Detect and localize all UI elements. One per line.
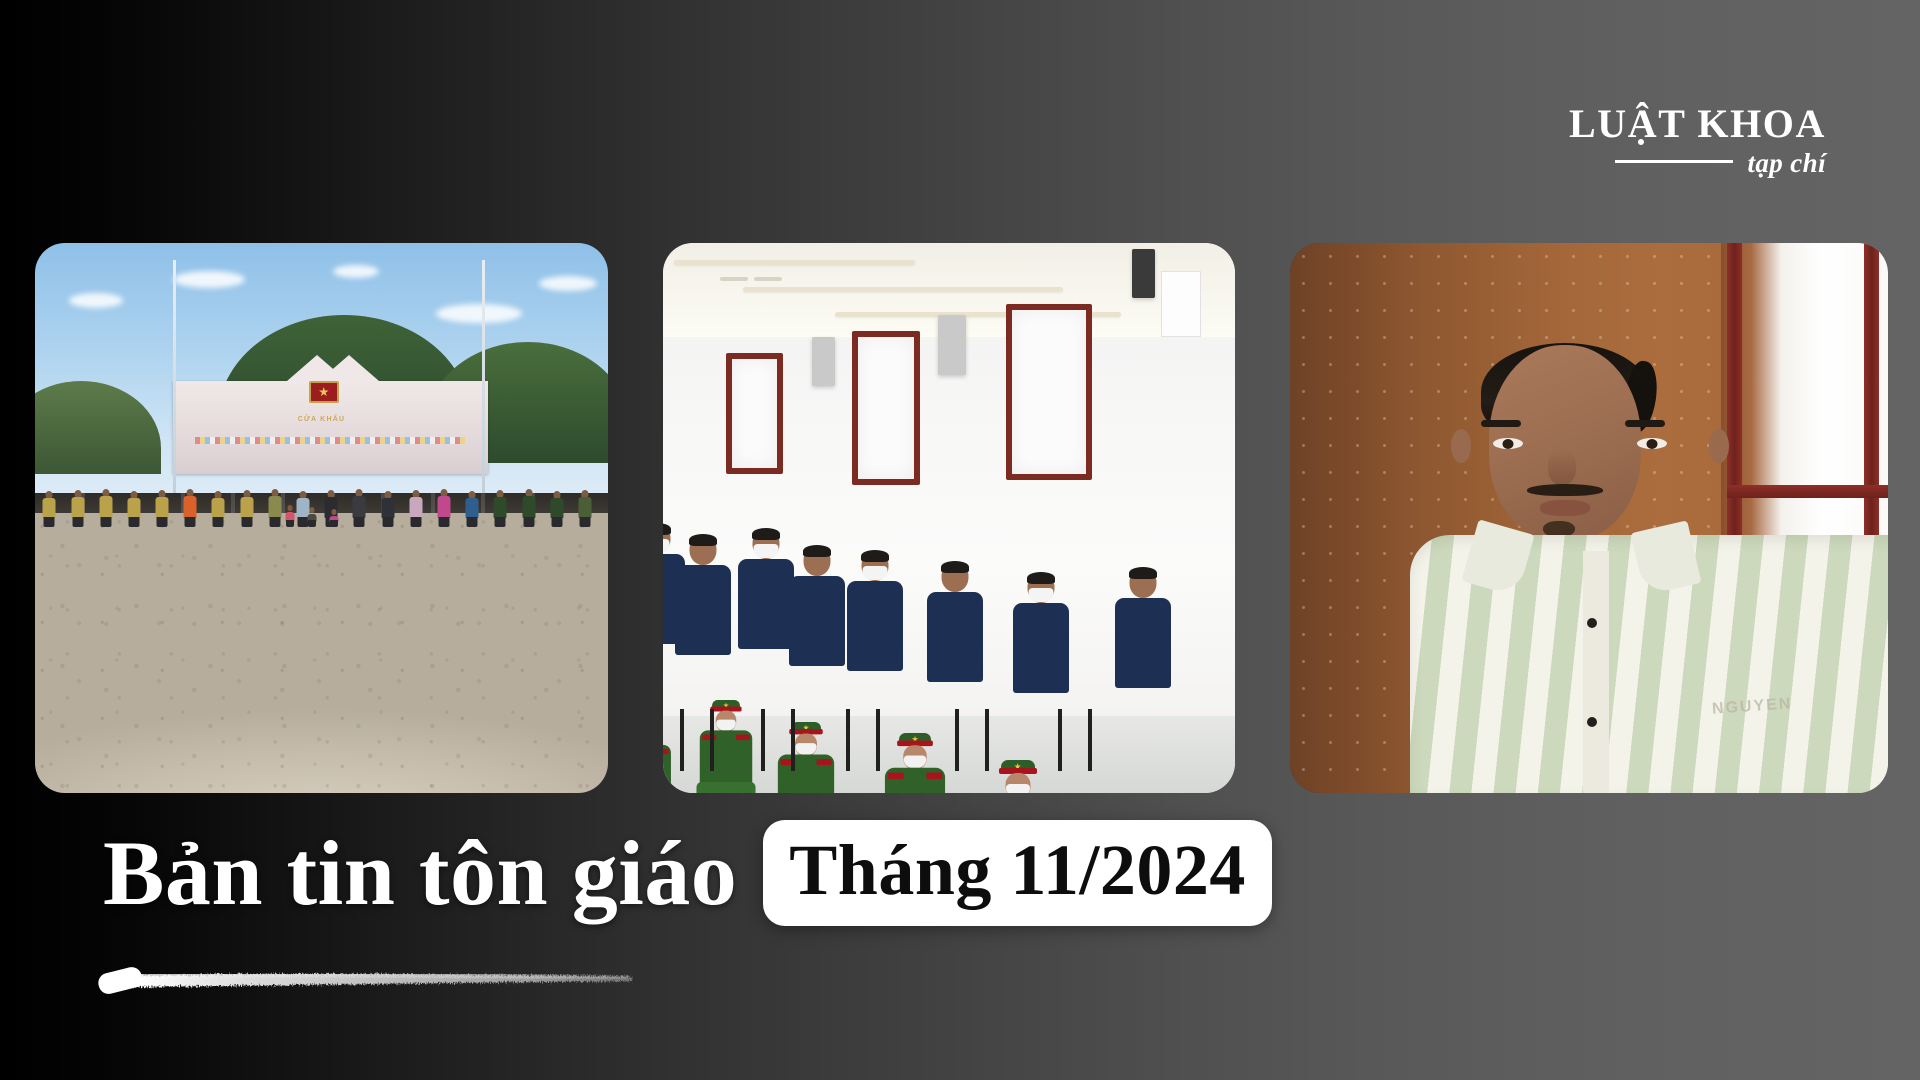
photo-card-border-gate[interactable]: CỬA KHẨU	[35, 243, 608, 793]
person-torso	[578, 497, 591, 518]
ceiling-cove	[743, 287, 1063, 292]
person-legs	[72, 517, 83, 527]
photo-3-scene: NGUYEN	[1290, 243, 1888, 793]
cloud-icon	[173, 271, 245, 288]
flag-pole	[482, 260, 485, 497]
photo-card-courtroom[interactable]	[663, 243, 1235, 793]
brand-name-secondary: tạp chí	[1747, 150, 1828, 177]
cloud-icon	[436, 304, 522, 323]
person-legs	[382, 517, 393, 527]
speaker-icon	[812, 337, 835, 387]
face-mask-icon	[1028, 588, 1053, 602]
person-legs	[579, 517, 590, 527]
person-torso	[325, 497, 338, 518]
hair	[1027, 572, 1055, 584]
person-torso	[184, 496, 197, 518]
nose	[1548, 449, 1576, 485]
face-mask-icon	[753, 544, 778, 558]
hair	[752, 528, 780, 540]
person-torso	[438, 496, 451, 518]
person-torso	[409, 497, 422, 518]
ceiling-cove	[674, 260, 914, 265]
brand-logo[interactable]: LUẬT KHOA tạp chí	[1528, 104, 1828, 177]
gravel-ground	[35, 513, 608, 794]
person-legs	[551, 517, 562, 527]
person-torso	[663, 745, 671, 793]
person-legs	[696, 782, 755, 794]
speaker-icon	[938, 315, 967, 376]
hair	[689, 534, 717, 546]
person-torso	[847, 581, 903, 671]
person-legs	[44, 517, 55, 527]
wall-notice	[1161, 271, 1201, 337]
brand-subtitle-row: tạp chí	[1528, 150, 1828, 177]
cap-star-icon	[1014, 763, 1021, 770]
person-torso	[466, 498, 479, 518]
person-legs	[100, 517, 111, 527]
person-head	[332, 509, 337, 515]
eyebrow-right	[1625, 420, 1665, 427]
person-torso	[268, 496, 281, 518]
police-cap-icon	[899, 733, 931, 745]
person-torso	[522, 496, 535, 518]
face-mask-icon	[862, 566, 887, 580]
person-legs	[213, 517, 224, 527]
photo-card-portrait[interactable]: NGUYEN	[1290, 243, 1888, 793]
roof-gable-right	[319, 355, 379, 381]
cloud-icon	[539, 276, 597, 291]
person-legs	[128, 517, 139, 527]
chair	[674, 709, 720, 771]
brush-underline-icon	[96, 958, 636, 1008]
hair	[861, 550, 889, 562]
poster-canvas: LUẬT KHOA tạp chí CỬA KHẨU	[0, 0, 1920, 1080]
ear-right	[1709, 429, 1729, 463]
flag-pole	[173, 260, 176, 497]
window-frame	[726, 353, 783, 474]
moustache	[1527, 484, 1603, 496]
person-legs	[523, 517, 534, 527]
brand-name-primary: LUẬT KHOA	[1528, 104, 1828, 145]
photo-1-scene: CỬA KHẨU	[35, 243, 608, 793]
person-legs	[157, 517, 168, 527]
door-frame	[1006, 304, 1092, 480]
cap-star-icon	[803, 724, 809, 730]
person-legs	[185, 517, 196, 527]
person-legs	[330, 520, 338, 527]
person-torso	[675, 565, 731, 655]
person-head	[287, 505, 292, 511]
face-mask-icon	[903, 755, 926, 767]
chair	[755, 709, 801, 771]
checkpoint-sign-text: CỬA KHẨU	[298, 416, 345, 423]
person-legs	[354, 517, 365, 527]
hair	[941, 561, 969, 573]
face-mask-icon	[1006, 784, 1030, 793]
brand-divider-rule	[1615, 160, 1733, 163]
chair	[840, 709, 886, 771]
photo-2-scene	[663, 243, 1235, 793]
eyebrow-left	[1481, 420, 1521, 427]
person-legs	[269, 517, 280, 527]
person-legs	[439, 517, 450, 527]
person-torso	[240, 497, 253, 518]
person-torso	[156, 497, 169, 518]
chair	[949, 709, 995, 771]
cap-star-icon	[723, 702, 729, 708]
chair	[1052, 709, 1098, 771]
person-legs	[467, 517, 478, 527]
person-torso	[353, 496, 366, 518]
hair	[1129, 567, 1157, 579]
person-head	[309, 507, 314, 513]
person-torso	[99, 496, 112, 518]
decorative-banner	[195, 437, 464, 444]
window-frame-horizontal	[1727, 485, 1888, 498]
person-torso	[127, 498, 140, 518]
person-torso	[738, 559, 794, 649]
person-torso	[1013, 603, 1069, 693]
person-legs	[241, 517, 252, 527]
person-legs	[286, 520, 294, 527]
person-torso	[550, 498, 563, 518]
person-torso	[381, 498, 394, 518]
person-torso	[789, 576, 845, 666]
person-legs	[308, 520, 316, 527]
hair	[803, 545, 831, 557]
shirt-placket	[1583, 551, 1609, 793]
police-cap-icon	[1001, 760, 1035, 773]
person-legs	[495, 517, 506, 527]
eye-right	[1637, 438, 1667, 449]
cap-star-icon	[911, 735, 918, 742]
person-torso	[885, 767, 945, 793]
page-title: Bản tin tôn giáo	[103, 827, 737, 919]
person-torso	[212, 498, 225, 518]
person-torso	[927, 592, 983, 682]
person-torso	[71, 497, 84, 518]
door-frame	[852, 331, 921, 485]
person-torso	[494, 497, 507, 518]
speaker-icon	[1132, 249, 1155, 299]
cloud-icon	[333, 265, 379, 278]
mouth	[1540, 500, 1590, 516]
headline-block: Bản tin tôn giáo Tháng 11/2024	[103, 820, 1272, 926]
month-badge: Tháng 11/2024	[763, 820, 1272, 926]
cloud-icon	[69, 293, 123, 308]
eye-left	[1493, 438, 1523, 449]
national-emblem-icon	[309, 381, 339, 403]
ceiling-fan-icon	[720, 271, 782, 287]
person-torso	[1115, 598, 1171, 688]
person-torso	[43, 498, 56, 518]
person-legs	[410, 517, 421, 527]
